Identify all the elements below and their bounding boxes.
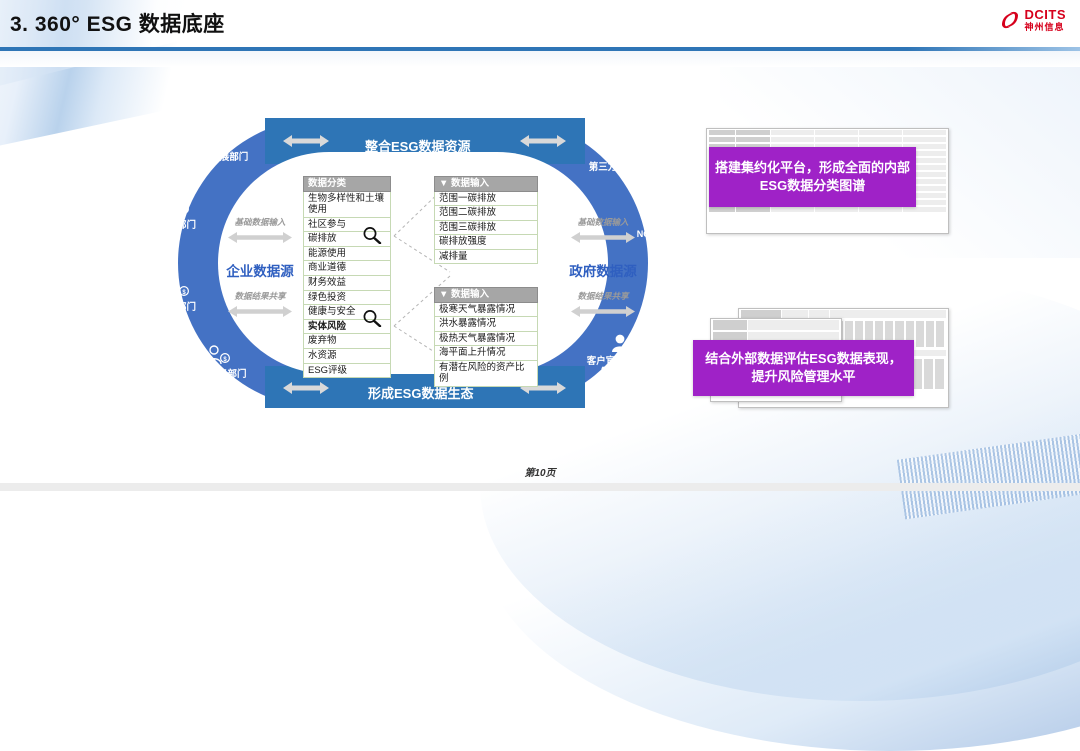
- data-category-cell[interactable]: 碳排放: [304, 232, 391, 247]
- data-input-carbon-cell[interactable]: 范围一碳排放: [435, 191, 538, 206]
- stakeholder-investment-dept[interactable]: $ 投资部门: [140, 278, 214, 314]
- stakeholder-label: 客户官方信息披露及估测: [587, 356, 654, 378]
- person-outline-icon: $: [181, 345, 255, 369]
- data-category-header: 数据分类: [304, 177, 391, 192]
- data-category-cell[interactable]: 商业道德: [304, 261, 391, 276]
- left-flow-note-top: 基础数据输入: [205, 216, 315, 228]
- data-category-cell[interactable]: 实体风险: [304, 319, 391, 334]
- page-title: 3. 360° ESG 数据底座: [10, 8, 225, 38]
- stakeholder-public-affairs-dept[interactable]: $ 公共事务部门: [181, 345, 255, 381]
- data-input-physical-cell[interactable]: 洪水暴露情况: [435, 317, 538, 332]
- stakeholder-label: 第三方评级机构: [589, 162, 656, 173]
- right-flow-arrow-bottom-icon: [571, 305, 635, 318]
- mock-row: [707, 206, 948, 213]
- right-flow-note-bottom: 数据结果共享: [548, 290, 658, 302]
- data-input-carbon-header: ▼ 数据输入: [435, 177, 538, 192]
- stakeholder-label: 政府数据: [647, 304, 683, 314]
- stakeholder-label: 公共事务部门: [189, 369, 246, 380]
- stakeholder-risk-dept[interactable]: $ 风险部门: [140, 196, 214, 232]
- data-category-cell[interactable]: 废弃物: [304, 334, 391, 349]
- callout-classification: 搭建集约化平台，形成全面的内部ESG数据分类图谱: [709, 147, 916, 207]
- stakeholder-third-party-rating[interactable]: 第三方评级机构: [585, 140, 659, 174]
- data-input-carbon-cell[interactable]: 碳排放强度: [435, 235, 538, 250]
- arrow-top-right-icon: [520, 134, 566, 148]
- data-category-cell[interactable]: 社区参与: [304, 217, 391, 232]
- stakeholder-label: 可持续发展部门: [182, 152, 249, 163]
- data-category-cell[interactable]: 财务效益: [304, 276, 391, 291]
- left-data-source-title: 企业数据源: [205, 260, 315, 280]
- left-flow-arrow-bottom-icon: [228, 305, 292, 318]
- arrow-bottom-left-icon: [283, 381, 329, 395]
- data-input-carbon-cell[interactable]: 范围三碳排放: [435, 220, 538, 235]
- person-outline-icon: $: [140, 278, 214, 302]
- data-input-physical-cell[interactable]: 有潜在风险的资产比例: [435, 360, 538, 386]
- stakeholder-label: NGO监测数据: [637, 229, 694, 239]
- mock-row: [707, 129, 948, 136]
- data-input-physical-cell[interactable]: 极寒天气暴露情况: [435, 302, 538, 317]
- data-input-physical-header: ▼ 数据输入: [435, 288, 538, 303]
- table-data-input-physical[interactable]: ▼ 数据输入极寒天气暴露情况洪水暴露情况极热天气暴露情况海平面上升情况有潜在风险…: [434, 287, 538, 387]
- table-data-input-carbon[interactable]: ▼ 数据输入范围一碳排放范围二碳排放范围三碳排放碳排放强度减排量: [434, 176, 538, 264]
- data-category-cell[interactable]: 水资源: [304, 348, 391, 363]
- mock-row: [707, 136, 948, 143]
- stakeholder-label: 风险部门: [158, 220, 196, 231]
- left-flow-note-bottom: 数据结果共享: [205, 290, 315, 302]
- stakeholder-client-disclosure[interactable]: 客户官方信息披露及估测: [583, 334, 657, 379]
- data-category-cell[interactable]: 绿色投资: [304, 290, 391, 305]
- stakeholder-label: 投资部门: [158, 302, 196, 313]
- data-category-cell[interactable]: 生物多样性和土壤使用: [304, 191, 391, 217]
- right-flow-arrow-top-icon: [571, 231, 635, 244]
- data-input-carbon-cell[interactable]: 减排量: [435, 249, 538, 264]
- logo-wordmark: DCITS 神州信息: [1025, 8, 1067, 32]
- arrow-top-left-icon: [283, 134, 329, 148]
- page-number: 第10页: [0, 464, 1080, 479]
- left-flow-arrow-top-icon: [228, 231, 292, 244]
- data-category-cell[interactable]: 健康与安全: [304, 305, 391, 320]
- data-category-cell[interactable]: ESG评级: [304, 363, 391, 378]
- band-top-label: 整合ESG数据资源: [365, 136, 470, 155]
- bottom-bar: [0, 483, 1080, 491]
- data-category-cell[interactable]: 能源使用: [304, 246, 391, 261]
- person-outline-icon: $: [140, 196, 214, 220]
- data-input-carbon-cell[interactable]: 范围二碳排放: [435, 206, 538, 221]
- logo-text-en: DCITS: [1025, 8, 1067, 21]
- person-filled-icon: [585, 140, 659, 162]
- mock-row: [711, 319, 841, 331]
- brand-logo: DCITS 神州信息: [999, 8, 1067, 32]
- title-divider-shadow: [0, 51, 1080, 67]
- dcits-swirl-icon: [999, 9, 1021, 31]
- person-outline-icon: $: [178, 128, 252, 152]
- callout-external-data: 结合外部数据评估ESG数据表现，提升风险管理水平: [693, 340, 914, 396]
- right-data-source-title: 政府数据源: [548, 260, 658, 280]
- person-filled-icon: [583, 334, 657, 356]
- logo-text-cn: 神州信息: [1025, 23, 1067, 32]
- stakeholder-sustainability-dept[interactable]: $ 可持续发展部门: [178, 128, 252, 164]
- data-input-physical-cell[interactable]: 极热天气暴露情况: [435, 331, 538, 346]
- table-data-category[interactable]: 数据分类生物多样性和土壤使用社区参与碳排放能源使用商业道德财务效益绿色投资健康与…: [303, 176, 391, 378]
- data-input-physical-cell[interactable]: 海平面上升情况: [435, 346, 538, 361]
- right-flow-note-top: 基础数据输入: [548, 216, 658, 228]
